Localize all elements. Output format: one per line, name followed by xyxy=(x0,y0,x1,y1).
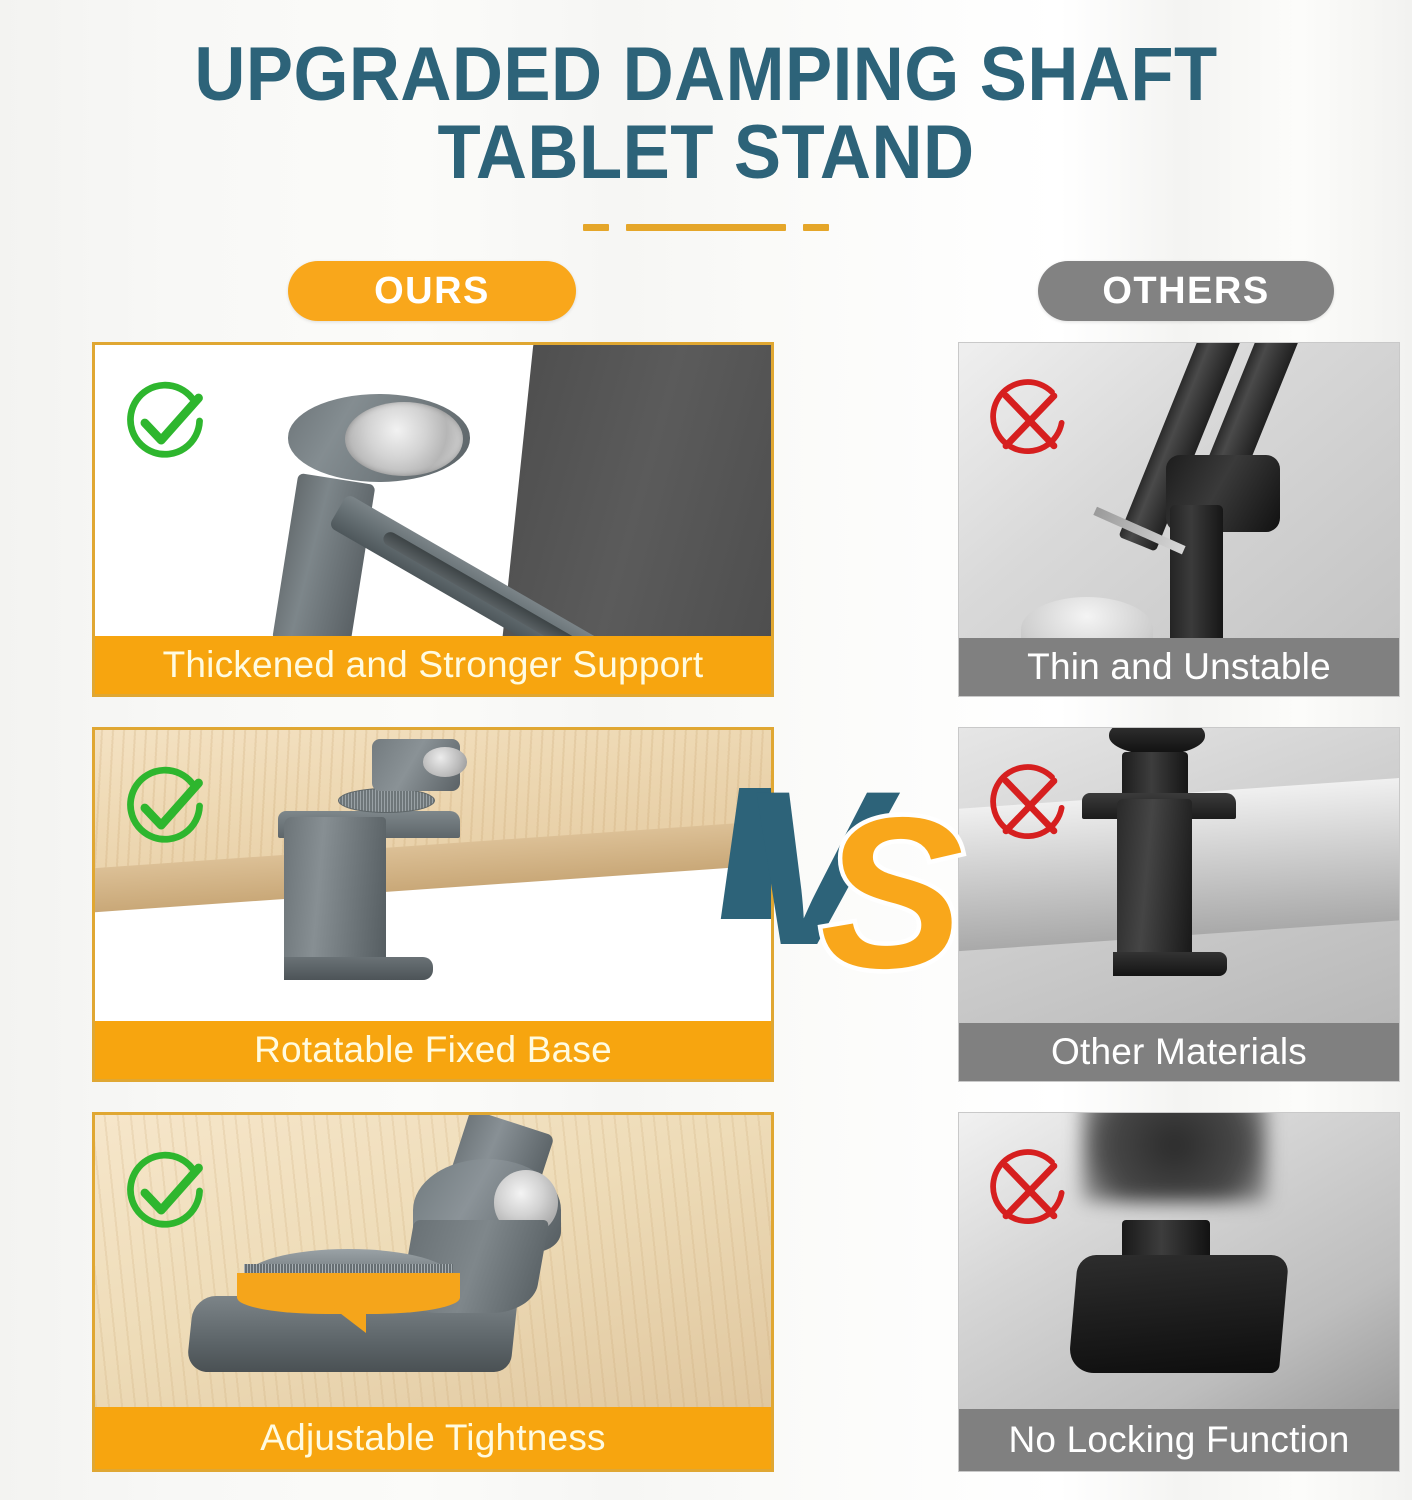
card-ours-3-caption: Adjustable Tightness xyxy=(95,1407,771,1469)
divider-dash-left xyxy=(583,224,609,231)
rotation-arrow-icon xyxy=(332,1281,366,1333)
card-others-2-photo xyxy=(959,728,1399,1023)
title-line-1: UPGRADED DAMPING SHAFT xyxy=(49,36,1362,114)
card-ours-2: Rotatable Fixed Base xyxy=(92,727,774,1082)
divider-dash-right xyxy=(803,224,829,231)
infographic-page: UPGRADED DAMPING SHAFT TABLET STAND OURS… xyxy=(0,0,1412,1500)
card-ours-2-caption: Rotatable Fixed Base xyxy=(95,1021,771,1079)
card-others-1-photo xyxy=(959,343,1399,638)
check-circle-icon xyxy=(117,373,213,469)
card-ours-2-photo xyxy=(95,730,771,1021)
card-others-2: Other Materials xyxy=(958,727,1400,1082)
card-others-3-caption: No Locking Function xyxy=(959,1409,1399,1471)
cross-circle-icon xyxy=(981,371,1077,467)
page-title: UPGRADED DAMPING SHAFT TABLET STAND xyxy=(0,36,1412,192)
card-ours-3: Adjustable Tightness xyxy=(92,1112,774,1472)
vs-graphic: V S xyxy=(738,762,978,982)
cross-circle-icon xyxy=(981,1141,1077,1237)
card-ours-1-photo xyxy=(95,345,771,636)
card-ours-1-caption: Thickened and Stronger Support xyxy=(95,636,771,694)
card-others-3: No Locking Function xyxy=(958,1112,1400,1472)
check-circle-icon xyxy=(117,758,213,854)
check-circle-icon xyxy=(117,1143,213,1239)
divider-bar xyxy=(626,224,786,231)
cross-circle-icon xyxy=(981,756,1077,852)
card-ours-3-photo xyxy=(95,1115,771,1407)
card-others-1-caption: Thin and Unstable xyxy=(959,638,1399,696)
card-ours-1: Thickened and Stronger Support xyxy=(92,342,774,697)
title-line-2: TABLET STAND xyxy=(49,114,1362,192)
badge-others: OTHERS xyxy=(1038,261,1334,321)
card-others-1: Thin and Unstable xyxy=(958,342,1400,697)
card-others-2-caption: Other Materials xyxy=(959,1023,1399,1081)
badge-ours: OURS xyxy=(288,261,576,321)
card-others-3-photo xyxy=(959,1113,1399,1409)
vs-letter-s: S xyxy=(820,772,963,982)
title-divider xyxy=(0,224,1412,231)
